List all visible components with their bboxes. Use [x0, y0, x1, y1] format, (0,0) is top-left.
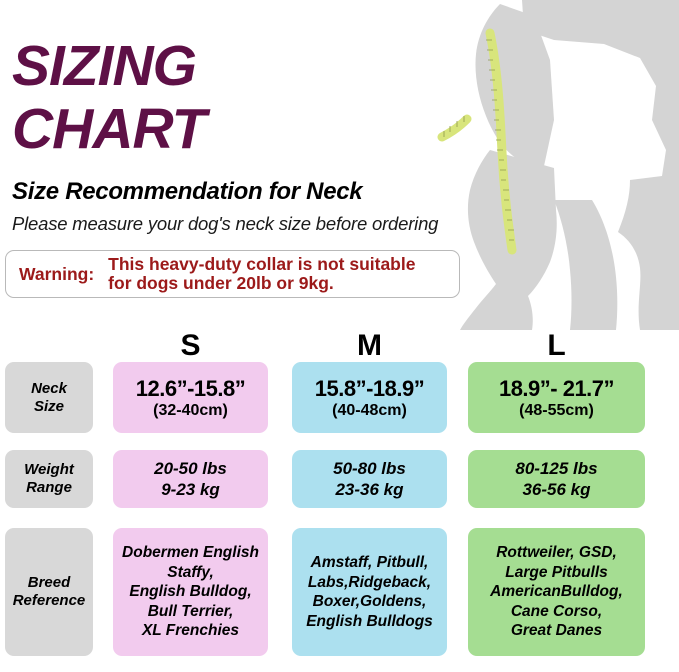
weight-kg-m: 23-36 kg: [296, 479, 443, 500]
row-label-weight-range: Weight Range: [5, 450, 93, 508]
column-header-m: M: [292, 330, 447, 362]
size-table: S M L Neck Size 12.6”-15.8” (32-40cm) 15…: [0, 330, 679, 665]
neck-size-cm-s: (32-40cm): [117, 401, 264, 420]
dog-silhouette-shape: [460, 0, 679, 330]
table-row-weight-range: Weight Range 20-50 lbs 9-23 kg 50-80 lbs…: [0, 440, 679, 520]
breed-line: Labs,Ridgeback,: [296, 573, 443, 593]
title-line-2: CHART: [12, 101, 205, 158]
breed-line: English Bulldog,: [117, 582, 264, 602]
row-label-line-1: Neck: [9, 380, 89, 398]
neck-size-inches-s: 12.6”-15.8”: [117, 376, 264, 401]
breed-line: Rottweiler, GSD,: [472, 543, 641, 563]
neck-size-cm-m: (40-48cm): [296, 401, 443, 420]
cell-weight-range-l: 80-125 lbs 36-56 kg: [468, 450, 645, 508]
breed-line: Amstaff, Pitbull,: [296, 553, 443, 573]
weight-kg-s: 9-23 kg: [117, 479, 264, 500]
breed-line: Staffy,: [117, 563, 264, 583]
cell-breed-reference-m: Amstaff, Pitbull, Labs,Ridgeback, Boxer,…: [292, 528, 447, 656]
breed-line: AmericanBulldog,: [472, 582, 641, 602]
column-header-s: S: [113, 330, 268, 362]
row-label-line-1: Breed: [9, 574, 89, 592]
weight-lbs-m: 50-80 lbs: [296, 458, 443, 479]
weight-lbs-s: 20-50 lbs: [117, 458, 264, 479]
breed-line: Cane Corso,: [472, 602, 641, 622]
breed-line: XL Frenchies: [117, 621, 264, 641]
neck-size-inches-m: 15.8”-18.9”: [296, 376, 443, 401]
warning-text-line-2: for dogs under 20lb or 9kg.: [108, 274, 415, 293]
neck-size-cm-l: (48-55cm): [472, 401, 641, 420]
warning-text-line-1: This heavy-duty collar is not suitable: [108, 255, 415, 274]
instruction-text: Please measure your dog's neck size befo…: [12, 213, 438, 235]
breed-line: English Bulldogs: [296, 612, 443, 632]
row-label-line-2: Reference: [9, 592, 89, 610]
neck-size-inches-l: 18.9”- 21.7”: [472, 376, 641, 401]
weight-lbs-l: 80-125 lbs: [472, 458, 641, 479]
breed-line: Boxer,Goldens,: [296, 592, 443, 612]
cell-weight-range-s: 20-50 lbs 9-23 kg: [113, 450, 268, 508]
cell-neck-size-s: 12.6”-15.8” (32-40cm): [113, 362, 268, 433]
cell-breed-reference-l: Rottweiler, GSD, Large Pitbulls American…: [468, 528, 645, 656]
breed-line: Dobermen English: [117, 543, 264, 563]
row-label-neck-size: Neck Size: [5, 362, 93, 433]
cell-neck-size-l: 18.9”- 21.7” (48-55cm): [468, 362, 645, 433]
table-row-breed-reference: Breed Reference Dobermen English Staffy,…: [0, 520, 679, 665]
breed-line: Large Pitbulls: [472, 563, 641, 583]
row-label-breed-reference: Breed Reference: [5, 528, 93, 656]
title-line-1: SIZING: [12, 38, 205, 95]
row-label-line-2: Size: [9, 398, 89, 416]
cell-breed-reference-s: Dobermen English Staffy, English Bulldog…: [113, 528, 268, 656]
breed-line: Bull Terrier,: [117, 602, 264, 622]
measuring-tape-ticks: [444, 40, 514, 240]
warning-label: Warning:: [6, 264, 94, 285]
cell-neck-size-m: 15.8”-18.9” (40-48cm): [292, 362, 447, 433]
cell-weight-range-m: 50-80 lbs 23-36 kg: [292, 450, 447, 508]
subtitle: Size Recommendation for Neck: [12, 178, 362, 206]
page-title: SIZING CHART: [12, 38, 205, 158]
row-label-line-1: Weight: [9, 461, 89, 479]
measuring-tape-icon: [442, 33, 512, 250]
warning-box: Warning: This heavy-duty collar is not s…: [5, 250, 460, 298]
breed-line: Great Danes: [472, 621, 641, 641]
column-header-l: L: [468, 330, 645, 362]
table-column-headers: S M L: [0, 330, 679, 362]
table-row-neck-size: Neck Size 12.6”-15.8” (32-40cm) 15.8”-18…: [0, 362, 679, 440]
weight-kg-l: 36-56 kg: [472, 479, 641, 500]
row-label-line-2: Range: [9, 479, 89, 497]
warning-text: This heavy-duty collar is not suitable f…: [94, 255, 415, 293]
